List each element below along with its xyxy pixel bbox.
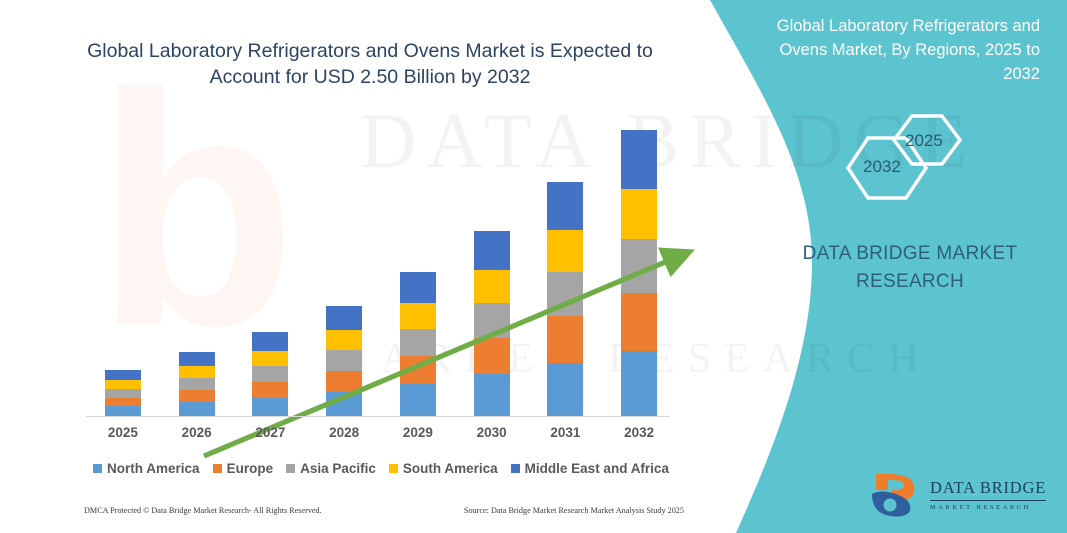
bar-segment [547,182,583,230]
page-title: Global Laboratory Refrigerators and Oven… [60,38,680,90]
footer: DMCA Protected © Data Bridge Market Rese… [84,506,684,522]
legend-label: North America [107,461,200,476]
bar-column [400,272,436,416]
x-axis-label: 2029 [383,425,453,440]
x-axis-label: 2026 [162,425,232,440]
legend-label: Middle East and Africa [525,461,669,476]
bar-segment [105,389,141,398]
bar-segment [621,293,657,350]
panel-title: Global Laboratory Refrigerators and Oven… [740,14,1040,86]
bar-segment [105,398,141,407]
bar-segment [252,398,288,416]
page-title-line1: Global Laboratory Refrigerators and Oven… [87,40,653,62]
hexagon-2032-label: 2032 [863,157,901,177]
panel-brand-line1: DATA BRIDGE MARKET [760,240,1060,268]
bar-column [105,370,141,416]
bar-segment [105,370,141,380]
logo-sub-text: MARKET RESEARCH [930,504,1060,511]
bar-segment [400,384,436,416]
legend-swatch-icon [213,464,222,473]
bar-segment [547,272,583,316]
bar-column [621,130,657,416]
footer-source: Source: Data Bridge Market Research Mark… [464,506,684,522]
bar-column [474,231,510,416]
bar-segment [474,338,510,375]
chart-legend: North AmericaEuropeAsia PacificSouth Ame… [86,458,676,478]
bar-segment [179,390,215,402]
bar-column [252,332,288,416]
legend-item[interactable]: Middle East and Africa [511,461,669,476]
bar-segment [474,270,510,303]
bar-segment [326,350,362,371]
bar-segment [547,230,583,272]
bar-segment [621,239,657,293]
company-logo-text: DATA BRIDGE MARKET RESEARCH [930,478,1060,511]
page-title-line2: Account for USD 2.50 Billion by 2032 [210,66,531,88]
panel-brand-line2: RESEARCH [760,268,1060,296]
legend-swatch-icon [93,464,102,473]
bar-segment [400,303,436,329]
bar-column [326,306,362,416]
x-axis-label: 2032 [604,425,674,440]
legend-label: Asia Pacific [300,461,376,476]
logo-main-text: DATA BRIDGE [930,478,1046,501]
bar-segment [547,363,583,416]
legend-swatch-icon [286,464,295,473]
year-hexagons: 2025 2032 [830,112,990,202]
chart-x-tick-labels: 20252026202720282029203020312032 [86,425,676,447]
footer-copyright: DMCA Protected © Data Bridge Market Rese… [84,506,322,522]
panel-brand: DATA BRIDGE MARKET RESEARCH [760,240,1060,296]
bar-segment [179,366,215,378]
bar-segment [621,130,657,188]
bar-segment [400,272,436,302]
legend-item[interactable]: Europe [213,461,274,476]
stacked-bar-chart [86,120,676,416]
legend-item[interactable]: South America [389,461,498,476]
bar-segment [621,189,657,239]
bar-segment [474,374,510,416]
legend-swatch-icon [511,464,520,473]
legend-item[interactable]: North America [93,461,200,476]
bar-segment [179,352,215,366]
bar-segment [326,371,362,392]
x-axis-label: 2030 [457,425,527,440]
bar-segment [621,351,657,416]
bar-column [179,352,215,416]
x-axis-label: 2031 [530,425,600,440]
bar-segment [326,306,362,330]
x-axis-label: 2025 [88,425,158,440]
bar-segment [400,329,436,356]
legend-item[interactable]: Asia Pacific [286,461,376,476]
legend-label: Europe [227,461,274,476]
bar-segment [179,402,215,416]
bar-segment [252,382,288,398]
bar-segment [547,316,583,363]
bar-segment [326,392,362,416]
bar-segment [474,303,510,338]
x-axis-label: 2027 [235,425,305,440]
bar-segment [474,231,510,269]
chart-x-axis [86,416,670,417]
hexagon-2025-label: 2025 [905,131,943,151]
bar-segment [179,378,215,390]
chart-plot-area [86,120,676,416]
bar-segment [326,330,362,350]
bar-column [547,182,583,416]
bar-segment [105,406,141,416]
bar-segment [252,351,288,367]
legend-swatch-icon [389,464,398,473]
bar-segment [400,356,436,384]
legend-label: South America [403,461,498,476]
bar-segment [252,332,288,350]
x-axis-label: 2028 [309,425,379,440]
infographic-root: b DATA BRIDGE MARKET RESEARCH Global Lab… [0,0,1067,533]
bar-segment [105,380,141,389]
bar-segment [252,366,288,382]
